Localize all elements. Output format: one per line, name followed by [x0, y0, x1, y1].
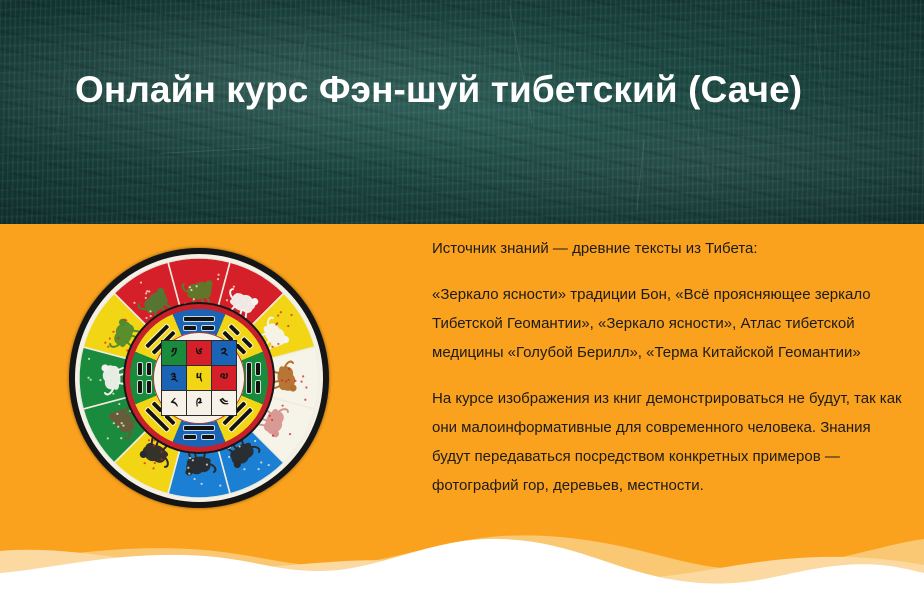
wave-divider: [0, 511, 924, 601]
landing-page-section: Онлайн курс Фэн-шуй тибетский (Саче) ༡༦༢…: [0, 0, 924, 601]
source-intro-paragraph: Источник знаний — древние тексты из Тибе…: [432, 234, 910, 263]
chalk-scratch: [160, 147, 270, 154]
chalk-scratch: [420, 178, 560, 184]
trigram-line: [147, 363, 151, 393]
trigram-line: [247, 363, 251, 393]
course-description-text: Источник знаний — древние тексты из Тибе…: [432, 234, 910, 500]
mewa-magic-square: ༡༦༢༣༥༧༨༩༤: [161, 340, 237, 416]
trigram-line: [184, 426, 214, 430]
mewa-cell-9: ༤: [212, 391, 236, 415]
sipaho-mandala: ༡༦༢༣༥༧༨༩༤: [69, 248, 329, 508]
trigram-line: [256, 363, 260, 393]
mewa-cell-1: ༡: [162, 341, 186, 365]
chalkboard-texture: [0, 0, 924, 224]
trigram-line: [184, 317, 214, 321]
page-title: Онлайн курс Фэн-шуй тибетский (Саче): [75, 68, 802, 112]
trigram-line: [138, 363, 142, 393]
chalk-scratch: [53, 60, 68, 149]
trigram-line: [184, 435, 214, 439]
mewa-cell-5: ༥: [187, 366, 211, 390]
mewa-cell-2: ༦: [187, 341, 211, 365]
mewa-cell-6: ༧: [212, 366, 236, 390]
mewa-cell-4: ༣: [162, 366, 186, 390]
mewa-cell-3: ༢: [212, 341, 236, 365]
mewa-cell-8: ༩: [187, 391, 211, 415]
source-list-paragraph: «Зеркало ясности» традиции Бон, «Всё про…: [432, 280, 910, 367]
course-method-paragraph: На курсе изображения из книг демонстриро…: [432, 384, 910, 500]
chalk-scratch: [814, 20, 827, 114]
tibetan-astrology-wheel-image: ༡༦༢༣༥༧༨༩༤: [48, 248, 350, 510]
trigram-line: [184, 326, 214, 330]
mewa-cell-7: ༨: [162, 391, 186, 415]
page-header: Онлайн курс Фэн-шуй тибетский (Саче): [0, 0, 924, 224]
content-band: ༡༦༢༣༥༧༨༩༤ Источник знаний — древние текс…: [0, 224, 924, 601]
chalk-scratch: [636, 140, 644, 210]
